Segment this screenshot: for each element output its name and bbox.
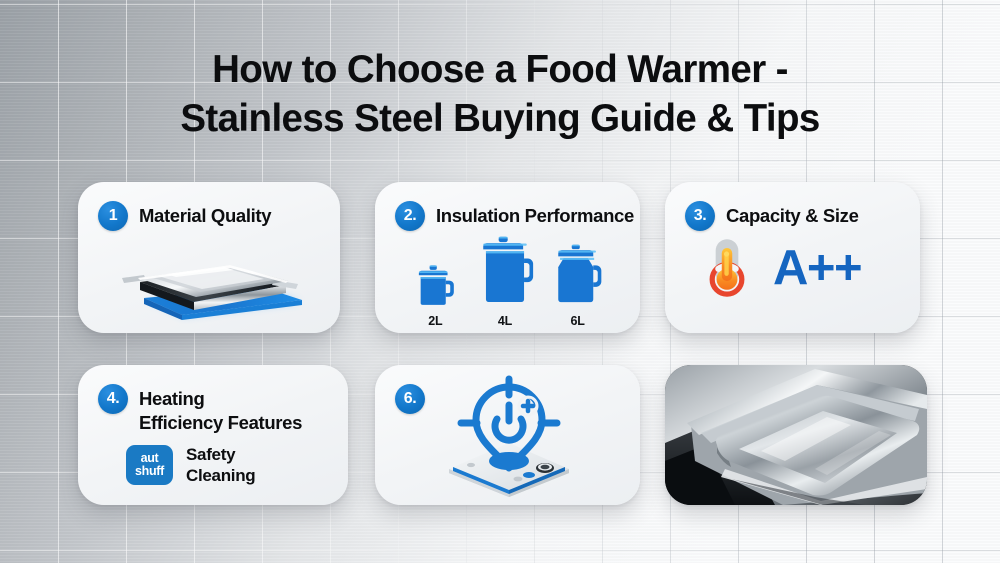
safety-feature-label: Safety Cleaning xyxy=(186,444,255,487)
page-title: How to Choose a Food Warmer - Stainless … xyxy=(0,46,1000,144)
step-badge-2: 2. xyxy=(395,201,425,231)
page-title-line-1: How to Choose a Food Warmer - xyxy=(0,46,1000,95)
card-product-photo[interactable] xyxy=(665,365,927,505)
page-title-line-2: Stainless Steel Buying Guide & Tips xyxy=(0,95,1000,144)
step-badge-6: 6. xyxy=(395,384,425,414)
card-heating-efficiency[interactable]: 4. Heating Efficiency Features aut shuff… xyxy=(78,365,348,505)
card-insulation-performance[interactable]: 2. Insulation Performance xyxy=(375,182,640,333)
card-header: 6. xyxy=(395,384,436,414)
dispenser-4l: 4L xyxy=(474,234,536,328)
thermometer-icon xyxy=(699,234,755,302)
auto-shutoff-chip-line-1: aut xyxy=(141,452,159,466)
card-smart-control[interactable]: 6. xyxy=(375,365,640,505)
safety-feature-group: aut shuff Safety Cleaning xyxy=(126,444,255,487)
capacity-label-2l: 2L xyxy=(428,314,442,328)
dispenser-icon-large xyxy=(474,234,536,312)
energy-rating-label: A++ xyxy=(773,244,861,293)
step-badge-4: 4. xyxy=(98,384,128,414)
card-title-insulation-performance: Insulation Performance xyxy=(436,201,634,228)
capacity-label-6l: 6L xyxy=(571,314,585,328)
card-header: 2. Insulation Performance xyxy=(395,201,634,231)
auto-shutoff-chip: aut shuff xyxy=(126,445,173,485)
dispenser-icon-medium xyxy=(549,242,607,312)
card-title-capacity-size: Capacity & Size xyxy=(726,201,859,228)
card-title-material-quality: Material Quality xyxy=(139,201,271,228)
card-header: 4. Heating Efficiency Features xyxy=(98,384,302,434)
card-title-heating-efficiency: Heating Efficiency Features xyxy=(139,384,302,434)
dispenser-6l: 6L xyxy=(549,242,607,328)
step-badge-1: 1 xyxy=(98,201,128,231)
card-capacity-size[interactable]: 3. Capacity & Size xyxy=(665,182,920,333)
infographic-canvas: How to Choose a Food Warmer - Stainless … xyxy=(0,0,1000,563)
auto-shutoff-chip-line-2: shuff xyxy=(135,465,164,479)
stainless-steel-gastronorm-pan-photo xyxy=(665,365,927,505)
card-material-quality[interactable]: 1 Material Quality xyxy=(78,182,340,333)
stainless-steel-pan-icon xyxy=(114,244,310,328)
energy-rating-group: A++ xyxy=(699,234,861,302)
card-header: 3. Capacity & Size xyxy=(685,201,859,231)
smart-control-pin-icon xyxy=(439,375,579,503)
dispenser-2l: 2L xyxy=(409,260,461,328)
step-badge-3: 3. xyxy=(685,201,715,231)
capacity-label-4l: 4L xyxy=(498,314,512,328)
card-header: 1 Material Quality xyxy=(98,201,271,231)
dispenser-icon-small xyxy=(409,260,461,312)
beverage-dispenser-icons: 2L 4L xyxy=(403,228,613,328)
